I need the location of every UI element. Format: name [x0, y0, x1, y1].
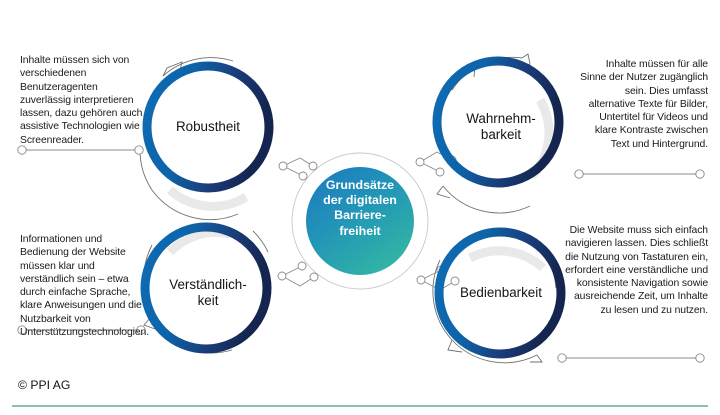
- description-bedienbarkeit: Die Website muss sich einfach navigieren…: [562, 224, 708, 317]
- ring-label-robustheit: Robustheit: [148, 119, 268, 135]
- ring-label-bedienbarkeit: Bedienbarkeit: [434, 285, 568, 301]
- center-title: Grundsätze der digitalen Barriere- freih…: [302, 178, 418, 239]
- copyright-credit: © PPI AG: [18, 378, 70, 392]
- ring-label-verstaendlichkeit: Verständlich- keit: [146, 277, 270, 309]
- ring-label-wahrnehmbarkeit: Wahrnehm- barkeit: [437, 111, 565, 143]
- description-wahrnehmbarkeit: Inhalte müssen für alle Sinne der Nutzer…: [578, 58, 708, 151]
- description-robustheit: Inhalte müssen sich von verschiedenen Be…: [20, 54, 144, 147]
- infographic-canvas: Inhalte müssen sich von verschiedenen Be…: [0, 0, 720, 415]
- footer-divider: [12, 405, 708, 407]
- description-verstaendlichkeit: Informationen und Bedienung der Website …: [20, 233, 146, 339]
